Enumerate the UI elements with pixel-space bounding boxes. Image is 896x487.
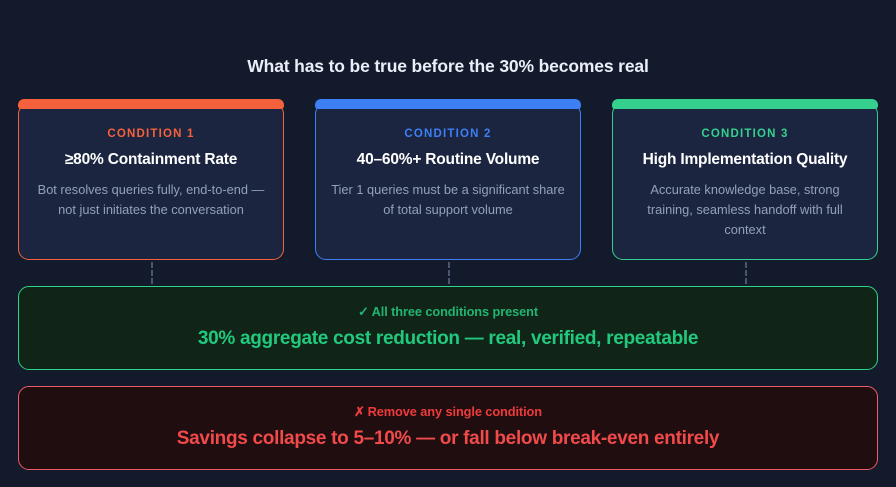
condition-kicker: CONDITION 2: [330, 128, 566, 140]
check-icon: ✓: [358, 304, 369, 319]
condition-heading: High Implementation Quality: [627, 151, 863, 169]
condition-body: Accurate knowledge base, strong training…: [627, 180, 863, 239]
failure-banner: ✗Remove any single condition Savings col…: [18, 386, 878, 470]
failure-kicker-label: Remove any single condition: [368, 404, 542, 419]
connector-line-3: [745, 262, 747, 284]
success-kicker-label: All three conditions present: [372, 304, 538, 319]
condition-card-3: CONDITION 3 High Implementation Quality …: [612, 103, 878, 260]
failure-headline: Savings collapse to 5–10% — or fall belo…: [35, 428, 861, 450]
success-banner: ✓All three conditions present 30% aggreg…: [18, 286, 878, 370]
condition-heading: 40–60%+ Routine Volume: [330, 151, 566, 169]
condition-heading: ≥80% Containment Rate: [33, 151, 269, 169]
conditions-row: CONDITION 1 ≥80% Containment Rate Bot re…: [18, 103, 878, 260]
failure-kicker: ✗Remove any single condition: [35, 404, 861, 420]
card-accent-bar: [315, 99, 581, 109]
connector-line-1: [151, 262, 153, 284]
cross-icon: ✗: [354, 404, 365, 419]
condition-body: Tier 1 queries must be a significant sha…: [330, 180, 566, 220]
condition-body: Bot resolves queries fully, end-to-end —…: [33, 180, 269, 220]
infographic-root: What has to be true before the 30% becom…: [0, 0, 896, 487]
connector-line-2: [448, 262, 450, 284]
condition-kicker: CONDITION 1: [33, 128, 269, 140]
card-accent-bar: [612, 99, 878, 109]
condition-kicker: CONDITION 3: [627, 128, 863, 140]
success-kicker: ✓All three conditions present: [35, 304, 861, 320]
success-headline: 30% aggregate cost reduction — real, ver…: [35, 328, 861, 350]
page-title: What has to be true before the 30% becom…: [18, 0, 878, 77]
condition-card-1: CONDITION 1 ≥80% Containment Rate Bot re…: [18, 103, 284, 260]
connector-group: [18, 260, 878, 286]
condition-card-2: CONDITION 2 40–60%+ Routine Volume Tier …: [315, 103, 581, 260]
card-accent-bar: [18, 99, 284, 109]
